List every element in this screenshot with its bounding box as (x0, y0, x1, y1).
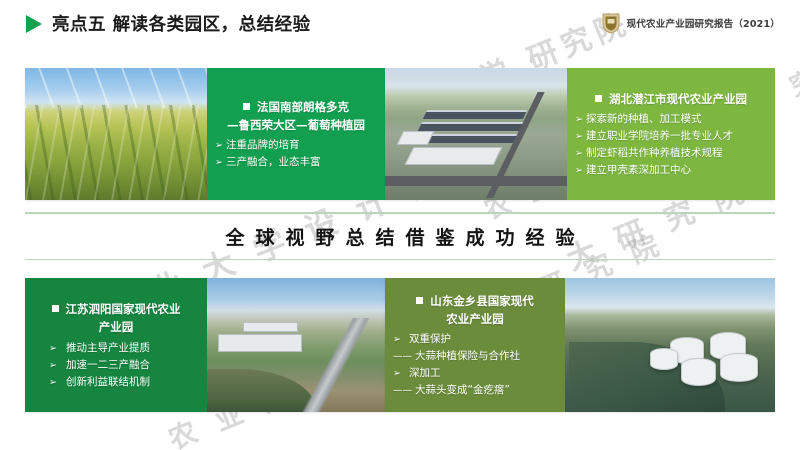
list-item-text: 加速一二三产融合 (66, 357, 150, 374)
list-item: ➢创新利益联结机制 (49, 374, 199, 391)
list-item: ——大蒜种植保险与合作社 (393, 348, 557, 365)
card-france-languedoc[interactable]: 法国南部朗格多克 —鲁西荣大区—葡萄种植园 ➢注重品牌的培育 ➢三产融合，业态丰… (25, 68, 385, 200)
list-item: ➢深加工 (393, 365, 557, 382)
card-title-line: 法国南部朗格多克 (257, 100, 349, 114)
card-title: 湖北潜江市现代农业产业园 (575, 91, 767, 109)
card-bullet-list: ➢探索新的种植、加工模式 ➢建立职业学院培养一批专业人才 ➢制定虾稻共作种养植技… (575, 111, 767, 179)
card-title-line: 农业产业园 (446, 312, 504, 326)
list-item: ➢注重品牌的培育 (215, 137, 377, 154)
card-panel: 山东金乡县国家现代 农业产业园 ➢双重保护 ——大蒜种植保险与合作社 ➢深加工 … (385, 278, 565, 412)
list-item-text: 制定虾稻共作种养植技术规程 (586, 145, 723, 162)
card-panel: 江苏泗阳国家现代农业 产业园 ➢推动主导产业提质 ➢加速一二三产融合 ➢创新利益… (25, 278, 207, 412)
card-title-line: 产业园 (99, 320, 134, 334)
card-jiangsu-siyang[interactable]: 江苏泗阳国家现代农业 产业园 ➢推动主导产业提质 ➢加速一二三产融合 ➢创新利益… (25, 278, 385, 412)
arrow-bullet-icon: ➢ (575, 129, 583, 144)
list-item: ➢制定虾稻共作种养植技术规程 (575, 145, 767, 162)
play-triangle-icon (26, 15, 42, 33)
list-item: ➢建立职业学院培养一批专业人才 (575, 128, 767, 145)
list-item-text: 推动主导产业提质 (66, 340, 150, 357)
bullet-square-icon (416, 297, 423, 304)
page-title: 亮点五 解读各类园区，总结经验 (26, 11, 311, 36)
list-item: ➢推动主导产业提质 (49, 340, 199, 357)
list-item: ➢双重保护 (393, 331, 557, 348)
arrow-bullet-icon: ➢ (215, 138, 223, 153)
list-item: ——大蒜头变成“金疙瘩” (393, 382, 557, 399)
brand-block: 现代农业产业园研究报告（2021） (602, 12, 780, 34)
vineyard-photo (25, 68, 207, 200)
list-item: ➢建立甲壳素深加工中心 (575, 162, 767, 179)
list-item-text: 探索新的种植、加工模式 (586, 111, 702, 128)
arrow-bullet-icon: ➢ (393, 332, 401, 347)
brand-label: 现代农业产业园研究报告（2021） (627, 16, 780, 30)
list-item-text: 三产融合，业态丰富 (226, 154, 321, 171)
riverside-park-aerial-photo (207, 278, 385, 412)
arrow-bullet-icon: ➢ (215, 155, 223, 170)
list-item-text: 注重品牌的培育 (226, 137, 300, 154)
arrow-bullet-icon: ➢ (575, 163, 583, 178)
list-item: ➢探索新的种植、加工模式 (575, 111, 767, 128)
page-title-text: 亮点五 解读各类园区，总结经验 (52, 11, 311, 36)
center-banner: 全球视野总结借鉴成功经验 (25, 212, 775, 260)
dash-bullet-icon: —— (393, 349, 412, 364)
card-bullet-list: ➢注重品牌的培育 ➢三产融合，业态丰富 (215, 137, 377, 171)
card-panel: 湖北潜江市现代农业产业园 ➢探索新的种植、加工模式 ➢建立职业学院培养一批专业人… (567, 68, 775, 200)
dash-bullet-icon: —— (393, 383, 412, 398)
list-item-text: 创新利益联结机制 (66, 374, 150, 391)
card-title-line: —鲁西荣大区—葡萄种植园 (227, 118, 365, 132)
bullet-square-icon (595, 95, 602, 102)
shield-emblem-icon (602, 12, 620, 34)
slide-header: 亮点五 解读各类园区，总结经验 现代农业产业园研究报告（2021） (0, 0, 800, 48)
card-title-line: 湖北潜江市现代农业产业园 (609, 92, 747, 106)
lake-industrial-complex-photo (565, 278, 775, 412)
card-title: 山东金乡县国家现代 农业产业园 (393, 293, 557, 329)
industrial-park-aerial-photo (385, 68, 567, 200)
arrow-bullet-icon: ➢ (49, 341, 57, 356)
list-item-text: 大蒜头变成“金疙瘩” (415, 382, 510, 399)
arrow-bullet-icon: ➢ (575, 112, 583, 127)
bullet-square-icon (243, 103, 250, 110)
list-item: ➢三产融合，业态丰富 (215, 154, 377, 171)
card-title: 江苏泗阳国家现代农业 产业园 (33, 301, 199, 337)
card-shandong-jinxiang[interactable]: 山东金乡县国家现代 农业产业园 ➢双重保护 ——大蒜种植保险与合作社 ➢深加工 … (385, 278, 775, 412)
list-item-text: 建立职业学院培养一批专业人才 (586, 128, 733, 145)
list-item-text: 双重保护 (409, 331, 451, 348)
arrow-bullet-icon: ➢ (575, 146, 583, 161)
card-panel: 法国南部朗格多克 —鲁西荣大区—葡萄种植园 ➢注重品牌的培育 ➢三产融合，业态丰… (207, 68, 385, 200)
card-title-line: 江苏泗阳国家现代农业 (66, 302, 181, 316)
list-item: ➢加速一二三产融合 (49, 357, 199, 374)
banner-text: 全球视野总结借鉴成功经验 (25, 212, 775, 260)
list-item-text: 建立甲壳素深加工中心 (586, 162, 691, 179)
list-item-text: 大蒜种植保险与合作社 (415, 348, 520, 365)
card-title-line: 山东金乡县国家现代 (430, 294, 534, 308)
bullet-square-icon (52, 305, 59, 312)
card-hubei-qianjiang[interactable]: 湖北潜江市现代农业产业园 ➢探索新的种植、加工模式 ➢建立职业学院培养一批专业人… (385, 68, 775, 200)
card-title: 法国南部朗格多克 —鲁西荣大区—葡萄种植园 (215, 99, 377, 135)
arrow-bullet-icon: ➢ (49, 358, 57, 373)
arrow-bullet-icon: ➢ (393, 366, 401, 381)
list-item-text: 深加工 (409, 365, 441, 382)
card-bullet-list: ➢双重保护 ——大蒜种植保险与合作社 ➢深加工 ——大蒜头变成“金疙瘩” (393, 331, 557, 399)
arrow-bullet-icon: ➢ (49, 375, 57, 390)
banner-rule-bottom (25, 259, 775, 261)
card-bullet-list: ➢推动主导产业提质 ➢加速一二三产融合 ➢创新利益联结机制 (33, 340, 199, 391)
